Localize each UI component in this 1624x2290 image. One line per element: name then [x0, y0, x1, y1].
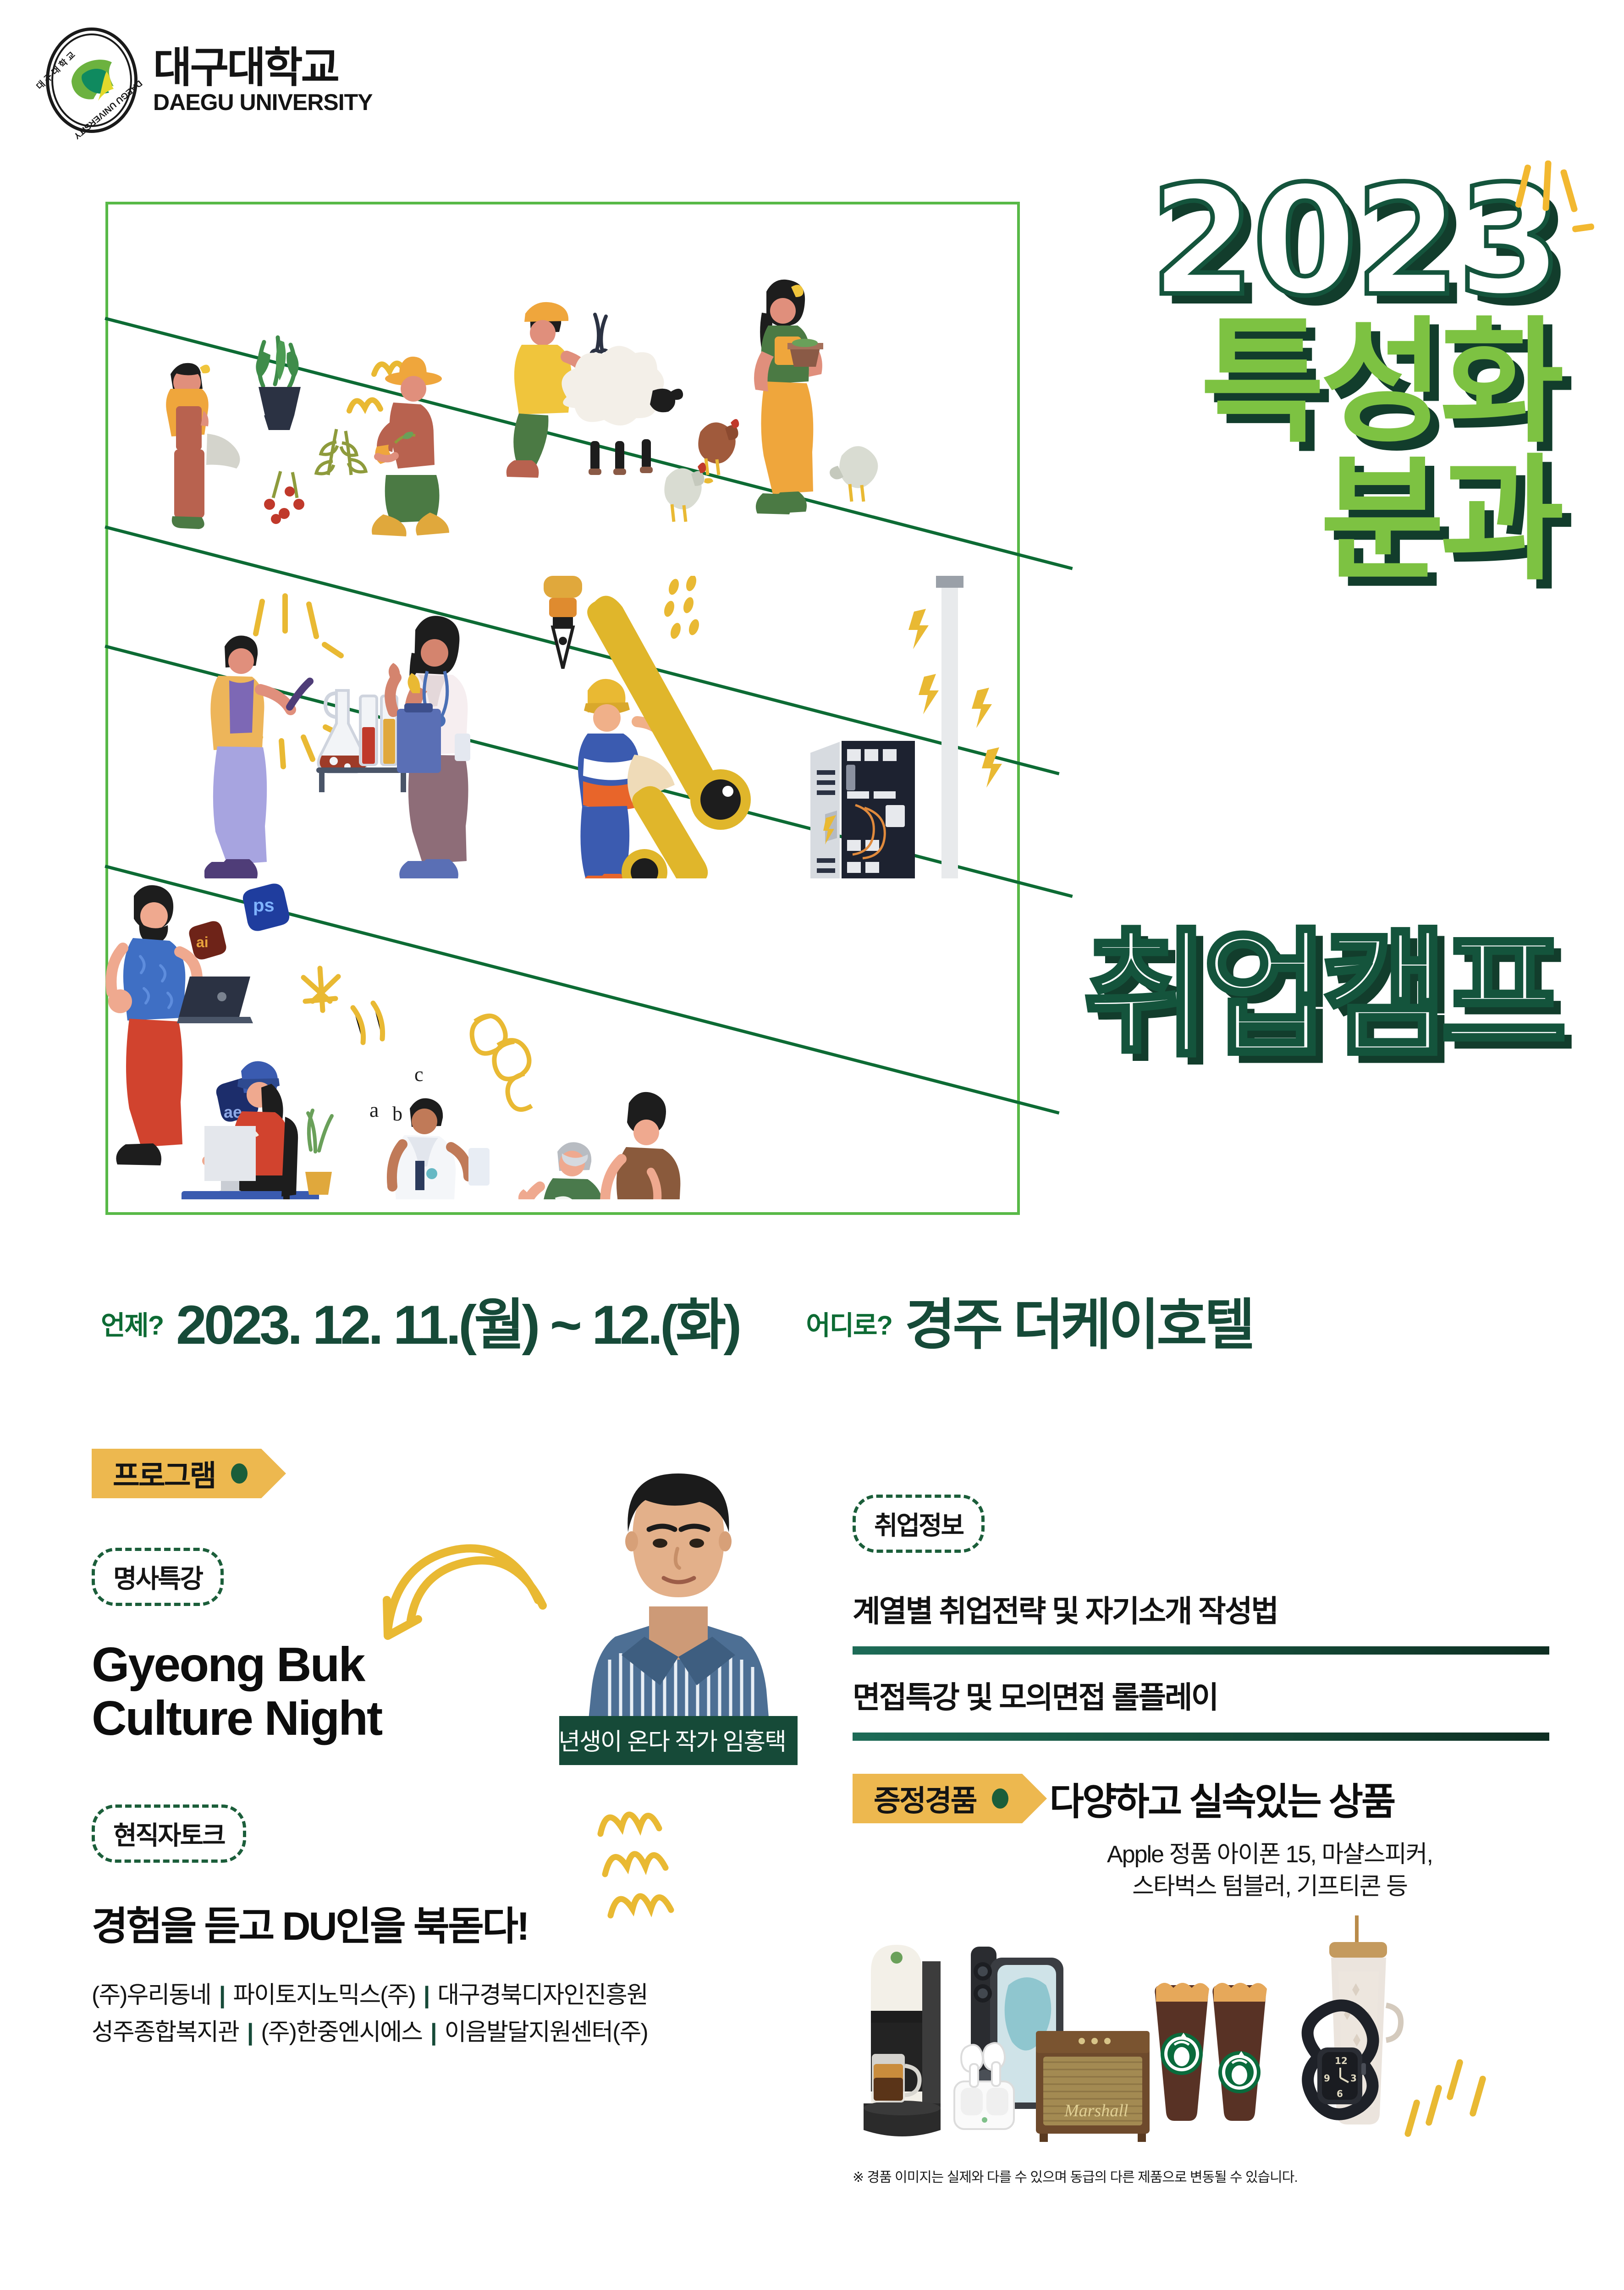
starbucks-iced-coffee [1155, 1983, 1209, 2121]
company-row-2: 성주종합복지관|(주)한중엔시에스|이음발달지원센터(주) [92, 2014, 807, 2051]
seal-text-ko: 대 구 대 학 교 [33, 49, 78, 92]
svg-text:ps: ps [253, 895, 275, 916]
tag-dot-icon [992, 1788, 1008, 1809]
keynote-chip: 명사특강 [92, 1548, 224, 1606]
company-name: 성주종합복지관 [92, 2019, 239, 2046]
program-tag-label: 프로그램 [113, 1452, 215, 1495]
company-name: 대구경북디자인진흥원 [437, 1982, 647, 2009]
svg-text:9: 9 [1324, 2073, 1330, 2084]
tag-dot-icon [231, 1463, 248, 1484]
career-info-item: 계열별 취업전략 및 자기소개 작성법 [853, 1587, 1549, 1631]
company-name: (주)우리동네 [92, 1982, 211, 2009]
company-row-1: (주)우리동네|파이토지노믹스(주)|대구경북디자인진흥원 [92, 1977, 807, 2014]
company-name: 이음발달지원센터(주) [445, 2019, 648, 2046]
where-value: 경주 더케이호텔 [905, 1297, 1252, 1352]
svg-text:a: a [369, 1098, 379, 1121]
speaker-photo: 90년생이 온다 작가 임홍택 [559, 1444, 798, 1765]
illustration-science-industry [204, 576, 1020, 878]
seal-text-en: DAEGU UNIVERSITY [72, 78, 144, 141]
university-name-en: DAEGU UNIVERSITY [153, 91, 373, 114]
program-column: 프로그램 명사특강 Gyeong Buk Culture Night [92, 1449, 807, 2186]
svg-text:6: 6 [1337, 2088, 1343, 2099]
prize-products: Marshall [853, 1903, 1531, 2159]
when-value: 2023. 12. 11.(월) ~ 12.(화) [176, 1297, 739, 1352]
svg-text:c: c [414, 1063, 424, 1086]
career-column: 취업정보 계열별 취업전략 및 자기소개 작성법 면접특강 및 모의면접 롤플레… [853, 1449, 1549, 2186]
university-logo: 대 구 대 학 교 DAEGU UNIVERSITY 대구대학교 DAEGU U… [46, 28, 373, 133]
career-info-item: 면접특강 및 모의면접 롤플레이 [853, 1673, 1549, 1717]
prizes-desc-line2: 스타벅스 텀블러, 기프티콘 등 [990, 1871, 1549, 1903]
university-name-ko: 대구대학교 [153, 47, 373, 89]
prizes-headline: 다양하고 실속있는 상품 [1050, 1771, 1394, 1826]
svg-text:Marshall: Marshall [1064, 2101, 1128, 2120]
svg-text:12: 12 [1335, 2055, 1348, 2066]
marshall-speaker: Marshall [1036, 2031, 1150, 2142]
airpods [954, 2043, 1014, 2130]
career-info-chip: 취업정보 [853, 1495, 985, 1553]
talk-chip: 현직자토크 [92, 1804, 246, 1863]
prizes-desc-line1: Apple 정품 아이폰 15, 마샬스피커, [990, 1838, 1549, 1871]
curved-arrow-icon [367, 1522, 550, 1641]
squiggle-decoration-icon [591, 1797, 701, 1935]
title-year: 2023 [964, 170, 1560, 314]
company-name: 파이토지노믹스(주) [233, 1982, 415, 2009]
divider [853, 1646, 1549, 1655]
prizes-tag: 증정경품 [853, 1774, 1022, 1823]
title-line1: 특성화 [964, 314, 1560, 452]
sparkle-icon [1404, 2058, 1487, 2138]
svg-text:b: b [392, 1103, 402, 1125]
prizes-tag-label: 증정경품 [874, 1777, 976, 1820]
title-line3: 취업캠프 [528, 926, 1560, 1064]
svg-text:3: 3 [1350, 2073, 1357, 2084]
company-name: (주)한중엔시에스 [261, 2019, 422, 2046]
sparkle-icon [1508, 160, 1581, 243]
poster-title: 2023 특성화 분과 취업캠프 [964, 170, 1560, 589]
program-tag: 프로그램 [92, 1449, 261, 1498]
nespresso-coffee-machine [864, 1945, 941, 2136]
where-label: 어디로? [806, 1304, 892, 1352]
title-line2: 분과 [964, 451, 1560, 589]
illustration-agriculture [127, 259, 997, 544]
prizes-note: ※ 경품 이미지는 실제와 다를 수 있으며 동급의 다른 제품으로 변동될 수… [853, 2166, 1549, 2186]
svg-text:ai: ai [196, 934, 209, 950]
when-label: 언제? [101, 1304, 163, 1352]
event-meta: 언제? 2023. 12. 11.(월) ~ 12.(화) 어디로? 경주 더케… [101, 1297, 1549, 1352]
university-seal-icon: 대 구 대 학 교 DAEGU UNIVERSITY [46, 28, 138, 133]
divider [853, 1733, 1549, 1741]
speaker-caption: 90년생이 온다 작가 임홍택 [559, 1716, 798, 1765]
starbucks-iced-coffee [1212, 1983, 1267, 2121]
